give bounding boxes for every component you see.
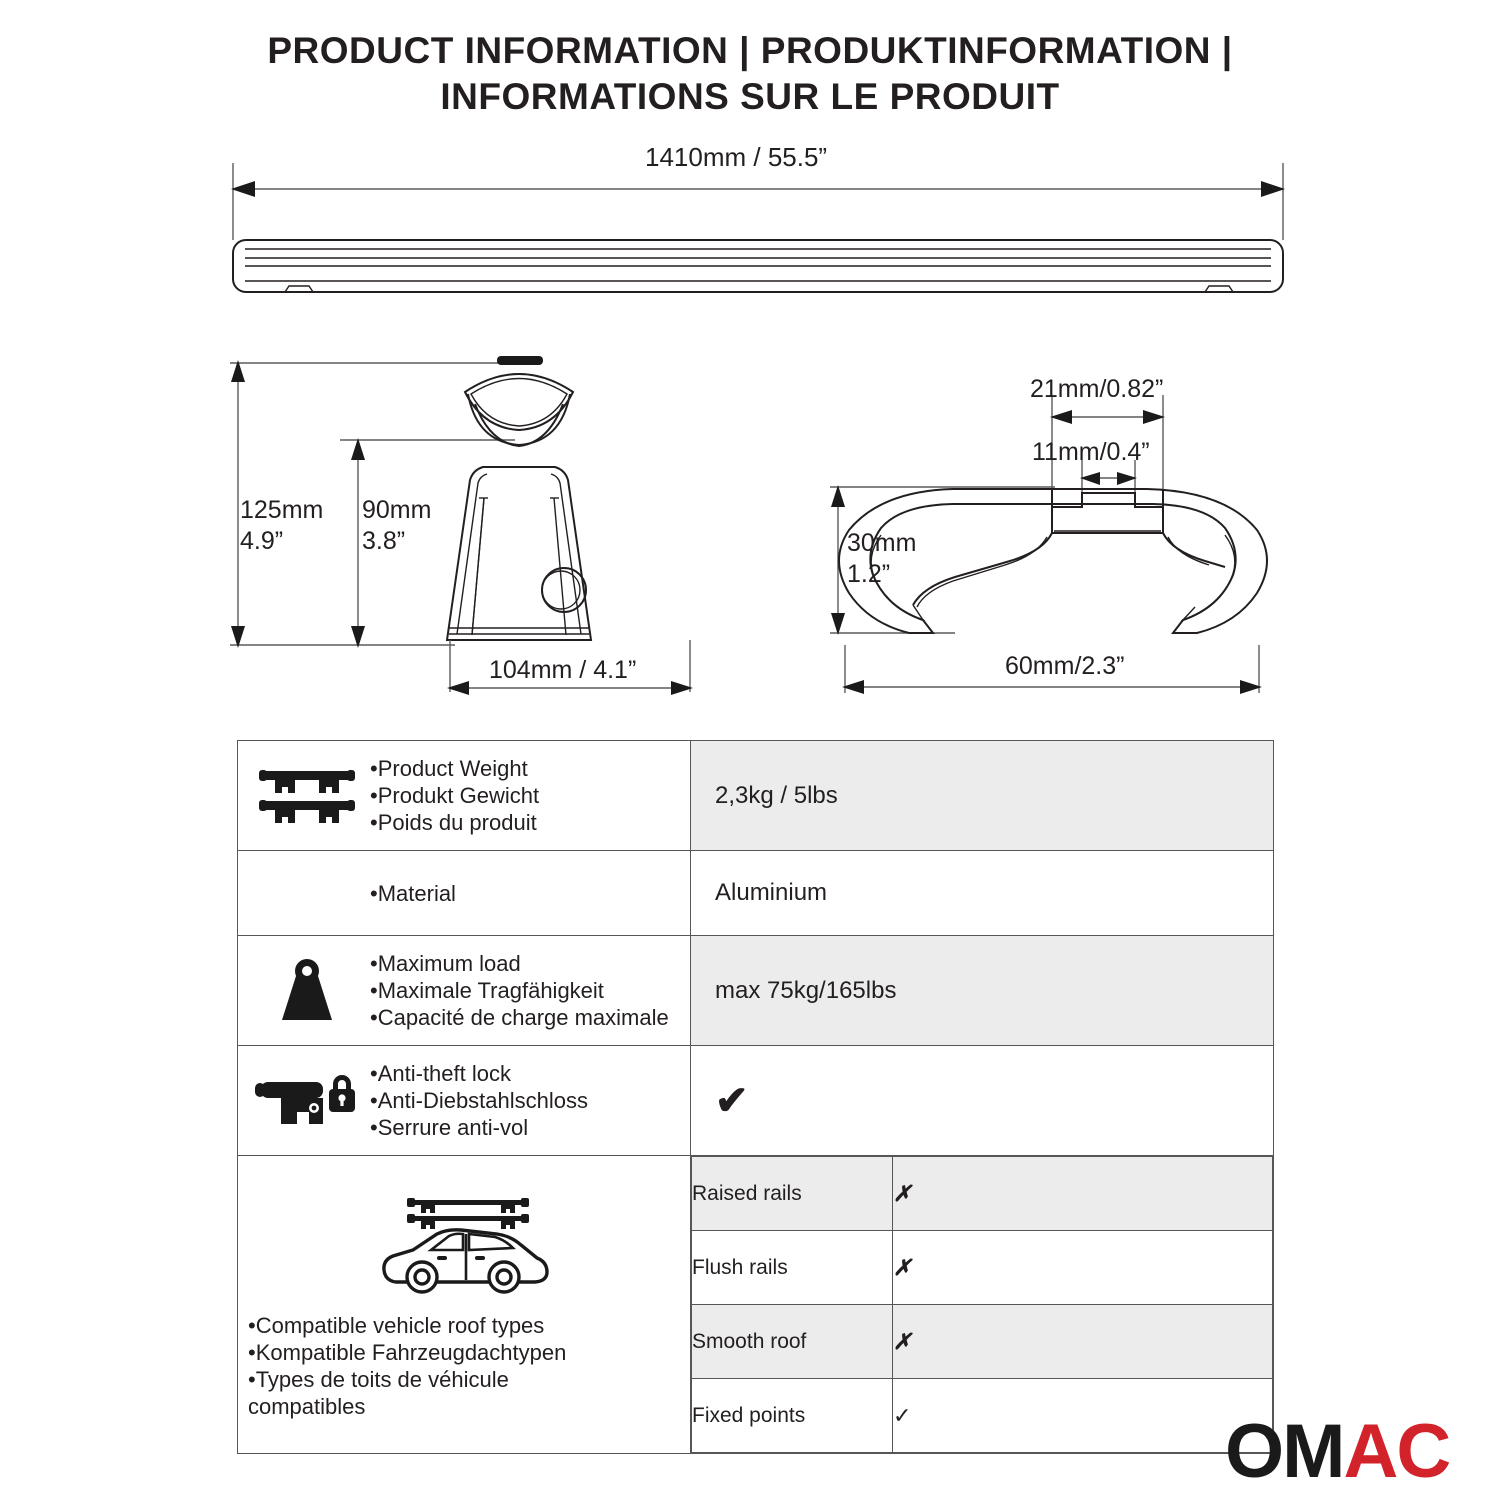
foot-width-label: 104mm / 4.1” — [489, 655, 636, 686]
roof-type-row: Flush rails ✗ — [692, 1231, 1273, 1305]
roof-type-mark: ✗ — [893, 1305, 1273, 1379]
spec-label-line: •Serrure anti-vol — [370, 1114, 588, 1141]
table-row: •Maximum load •Maximale Tragfähigkeit •C… — [238, 936, 1274, 1046]
spec-value-material: Aluminium — [691, 879, 1273, 907]
foot-total-height-label: 125mm4.9” — [240, 495, 323, 557]
spec-label-line: •Types de toits de véhicule — [248, 1366, 682, 1393]
product-spec-table: •Product Weight •Produkt Gewicht •Poids … — [237, 740, 1274, 1454]
spec-label-line: •Poids du produit — [370, 809, 539, 836]
spec-label-cell-roof-types: •Compatible vehicle roof types •Kompatib… — [238, 1156, 691, 1454]
table-row: •Anti-theft lock •Anti-Diebstahlschloss … — [238, 1046, 1274, 1156]
profile-slot-inner-label: 11mm/0.4” — [1032, 437, 1150, 468]
spec-label-cell-max-load: •Maximum load •Maximale Tragfähigkeit •C… — [238, 936, 691, 1046]
spec-label-line: •Product Weight — [370, 755, 539, 782]
spec-label-line: •Anti-theft lock — [370, 1060, 588, 1087]
car-with-roof-bars-icon — [248, 1190, 682, 1308]
roof-type-name: Flush rails — [692, 1231, 893, 1305]
spec-value-max-load: max 75kg/165lbs — [691, 977, 1273, 1005]
table-row: •Compatible vehicle roof types •Kompatib… — [238, 1156, 1274, 1454]
spec-label-line: compatibles — [248, 1393, 682, 1420]
weight-icon — [248, 958, 366, 1024]
spec-value-cell-material: Aluminium — [691, 851, 1274, 936]
roof-type-mark: ✓ — [893, 1379, 1273, 1453]
spec-labels-weight: •Product Weight •Produkt Gewicht •Poids … — [370, 751, 539, 840]
roof-type-mark: ✗ — [893, 1231, 1273, 1305]
spec-value-weight: 2,3kg / 5lbs — [691, 782, 1273, 810]
spec-labels-max-load: •Maximum load •Maximale Tragfähigkeit •C… — [370, 946, 669, 1035]
profile-height-label: 30mm1.2” — [847, 528, 916, 590]
logo-text-red: AC — [1343, 1409, 1449, 1494]
roof-type-name: Smooth roof — [692, 1305, 893, 1379]
omac-logo: OMAC — [1225, 1414, 1449, 1490]
title-line-1: PRODUCT INFORMATION | PRODUKTINFORMATION… — [150, 28, 1350, 74]
page-title: PRODUCT INFORMATION | PRODUKTINFORMATION… — [150, 28, 1350, 120]
spec-label-cell-weight: •Product Weight •Produkt Gewicht •Poids … — [238, 741, 691, 851]
title-line-2: INFORMATIONS SUR LE PRODUIT — [150, 74, 1350, 120]
spec-value-cell-lock: ✔ — [691, 1046, 1274, 1156]
lock-included-checkmark: ✔ — [691, 1081, 1273, 1121]
roof-rack-bars-icon — [248, 765, 366, 827]
roof-types-table: Raised rails ✗ Flush rails ✗ Smooth roof… — [691, 1156, 1273, 1453]
spec-label-line: •Maximum load — [370, 950, 669, 977]
spec-label-line: •Compatible vehicle roof types — [248, 1312, 682, 1339]
profile-width-label: 60mm/2.3” — [1005, 651, 1124, 682]
table-row: •Material Aluminium — [238, 851, 1274, 936]
bar-length-label: 1410mm / 55.5” — [645, 142, 827, 173]
spec-labels-material: •Material — [370, 876, 456, 911]
roof-types-cell: Raised rails ✗ Flush rails ✗ Smooth roof… — [691, 1156, 1274, 1454]
logo-text-dark: OM — [1225, 1409, 1343, 1494]
spec-label-line: •Produkt Gewicht — [370, 782, 539, 809]
anti-theft-lock-icon — [248, 1070, 366, 1132]
spec-label-line: •Maximale Tragfähigkeit — [370, 977, 669, 1004]
spec-labels-lock: •Anti-theft lock •Anti-Diebstahlschloss … — [370, 1056, 588, 1145]
roof-type-row: Smooth roof ✗ — [692, 1305, 1273, 1379]
profile-slot-outer-label: 21mm/0.82” — [1030, 374, 1163, 405]
spec-label-line: •Kompatible Fahrzeugdachtypen — [248, 1339, 682, 1366]
roof-type-row: Raised rails ✗ — [692, 1157, 1273, 1231]
roof-type-mark: ✗ — [893, 1157, 1273, 1231]
spec-label-line: •Capacité de charge maximale — [370, 1004, 669, 1031]
table-row: •Product Weight •Produkt Gewicht •Poids … — [238, 741, 1274, 851]
spec-label-cell-material: •Material — [238, 851, 691, 936]
spec-label-cell-lock: •Anti-theft lock •Anti-Diebstahlschloss … — [238, 1046, 691, 1156]
product-information-sheet: PRODUCT INFORMATION | PRODUKTINFORMATION… — [0, 0, 1500, 1500]
spec-value-cell-weight: 2,3kg / 5lbs — [691, 741, 1274, 851]
spec-label-line: •Material — [370, 880, 456, 907]
roof-type-name: Fixed points — [692, 1379, 893, 1453]
foot-inner-height-label: 90mm3.8” — [362, 495, 431, 557]
spec-value-cell-max-load: max 75kg/165lbs — [691, 936, 1274, 1046]
spec-label-line: •Anti-Diebstahlschloss — [370, 1087, 588, 1114]
roof-type-row: Fixed points ✓ — [692, 1379, 1273, 1453]
spec-labels-roof-types: •Compatible vehicle roof types •Kompatib… — [248, 1308, 682, 1424]
roof-type-name: Raised rails — [692, 1157, 893, 1231]
